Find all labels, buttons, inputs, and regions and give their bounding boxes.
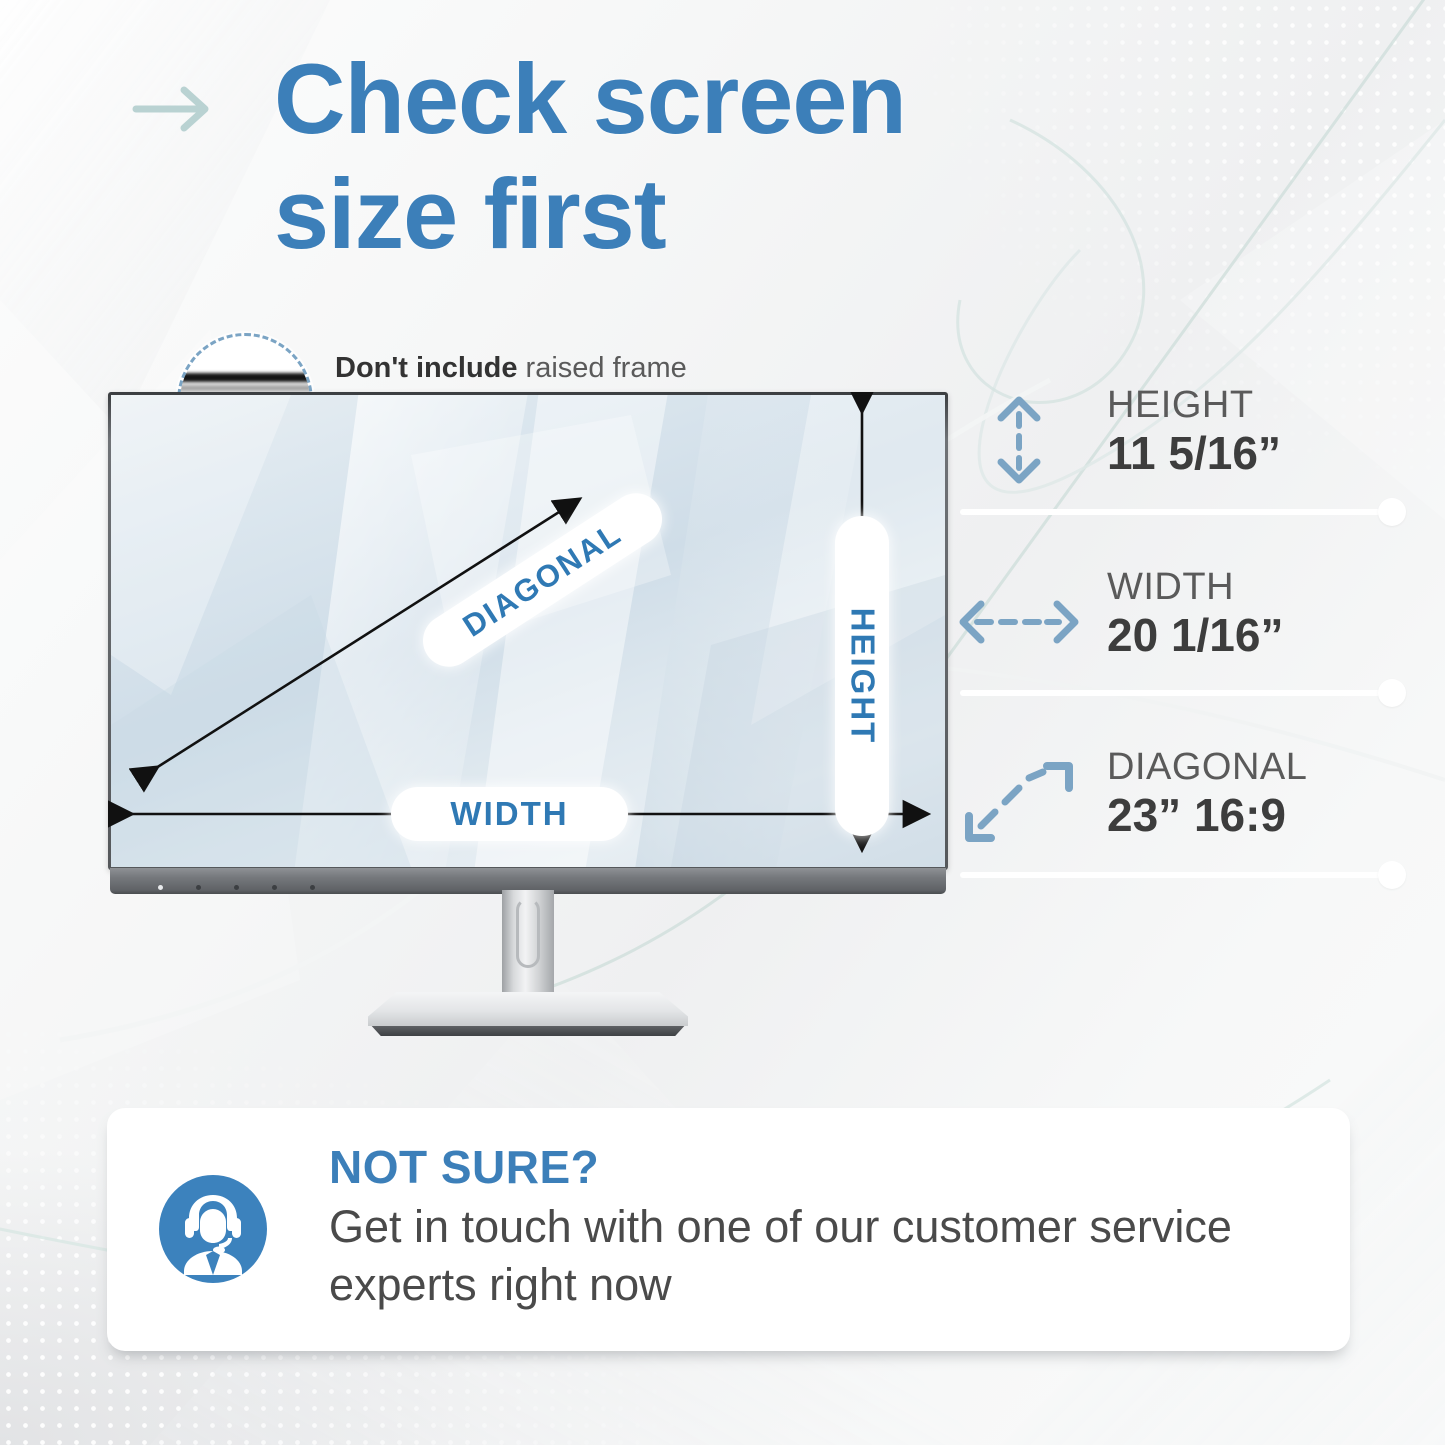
spec-label: DIAGONAL (1107, 748, 1307, 788)
horizontal-double-arrow-icon (955, 574, 1083, 670)
monitor-illustration: WIDTH HEIGHT DIAGONAL (108, 392, 948, 1032)
spec-value: 23” 16:9 (1107, 790, 1307, 842)
vertical-double-arrow-icon (955, 392, 1083, 488)
spec-divider-3 (960, 872, 1380, 878)
spec-row-width: WIDTH 20 1/16” (955, 562, 1395, 702)
spec-row-diagonal: DIAGONAL 23” 16:9 (955, 742, 1395, 882)
spec-value: 11 5/16” (1107, 428, 1281, 480)
monitor-label-width: WIDTH (391, 787, 628, 841)
arrow-right-icon (132, 82, 218, 136)
spec-list: HEIGHT 11 5/16” WIDTH 20 1/16” (955, 380, 1395, 880)
headset-agent-icon (157, 1173, 269, 1285)
spec-divider-knob (1378, 679, 1406, 707)
frame-note: Don't include raised frame (335, 352, 687, 385)
spec-row-height: HEIGHT 11 5/16” (955, 380, 1395, 520)
spec-label: HEIGHT (1107, 386, 1281, 426)
page-title-line2: size first (274, 158, 666, 269)
not-sure-body: Get in touch with one of our customer se… (329, 1198, 1299, 1313)
spec-divider-2 (960, 690, 1380, 696)
page-title-line1: Check screen (274, 43, 906, 154)
monitor-stand-base (368, 992, 688, 1036)
monitor-label-height: HEIGHT (835, 516, 889, 836)
not-sure-title: NOT SURE? (329, 1140, 599, 1194)
frame-note-bold: Don't include (335, 352, 518, 384)
monitor-bezel: WIDTH HEIGHT DIAGONAL (108, 392, 948, 870)
page-title: Check screen size first (274, 42, 1174, 272)
spec-divider-1 (960, 509, 1380, 515)
spec-value: 20 1/16” (1107, 610, 1283, 662)
monitor-label-height-text: HEIGHT (843, 608, 881, 745)
spec-divider-knob (1378, 861, 1406, 889)
not-sure-card[interactable]: NOT SURE? Get in touch with one of our c… (107, 1108, 1350, 1351)
frame-note-normal: raised frame (518, 352, 687, 384)
diagonal-arrow-icon (955, 754, 1083, 850)
spec-divider-knob (1378, 498, 1406, 526)
monitor-label-width-text: WIDTH (450, 795, 568, 833)
spec-label: WIDTH (1107, 568, 1283, 608)
